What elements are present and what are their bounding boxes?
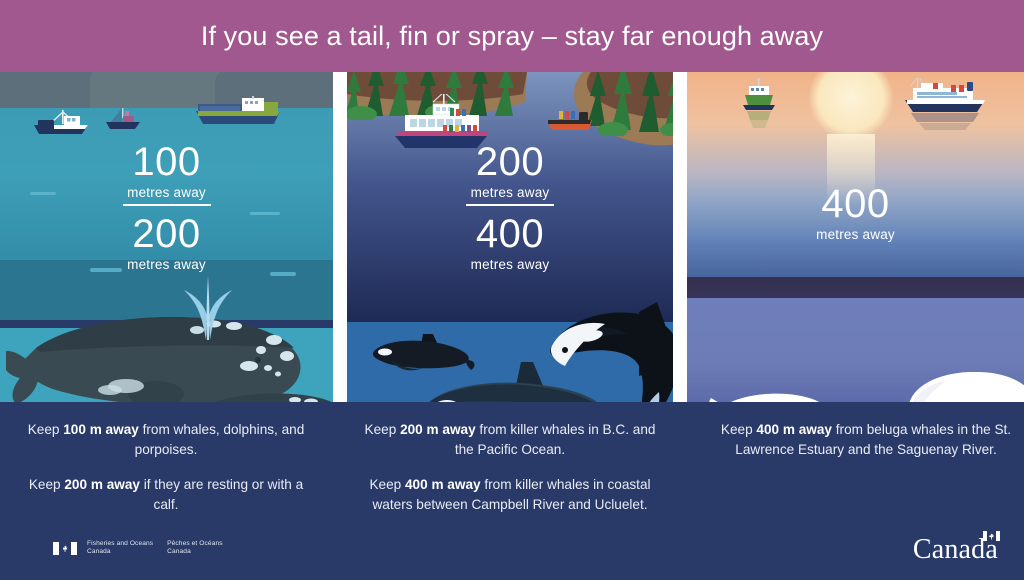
guidance-column-killer-whales: Keep 200 m away from killer whales in B.…	[358, 420, 662, 530]
header-banner: If you see a tail, fin or spray – stay f…	[0, 0, 1024, 72]
guidance-prefix: Keep	[369, 477, 405, 492]
canada-wordmark-flag-icon	[983, 531, 1000, 541]
tugboat-icon	[741, 78, 777, 130]
department-name: Fisheries and Oceans CanadaPêches et Océ…	[87, 540, 223, 557]
conifer-tree-icon	[583, 72, 673, 136]
guidance-suffix: if they are resting or with a calf.	[140, 477, 303, 512]
guidance-line: Keep 400 m away from killer whales in co…	[358, 475, 662, 514]
fishing-boat-icon	[34, 110, 94, 138]
beluga-whale-icon	[873, 372, 1024, 402]
divider-rule	[123, 204, 211, 206]
page-title: If you see a tail, fin or spray – stay f…	[201, 23, 823, 50]
cruise-ferry-icon	[903, 78, 993, 134]
whale-spray-icon	[178, 270, 238, 342]
measurement-block-400: 400 metres away	[687, 182, 1024, 243]
zodiac-boat-icon	[545, 108, 595, 136]
guidance-prefix: Keep	[721, 422, 757, 437]
fip-signature: Fisheries and Oceans CanadaPêches et Océ…	[53, 540, 223, 557]
divider-rule	[466, 204, 554, 206]
infographic-poster: If you see a tail, fin or spray – stay f…	[0, 0, 1024, 580]
guidance-prefix: Keep	[365, 422, 401, 437]
sailboat-icon	[104, 108, 144, 132]
beluga-whale-icon	[705, 390, 835, 402]
panel-divider	[673, 72, 687, 402]
measure-unit: metres away	[347, 184, 673, 201]
guidance-suffix: from killer whales in B.C. and the Pacif…	[455, 422, 656, 457]
guidance-distance: 400 m away	[756, 422, 832, 437]
measurement-block-200-400: 200 metres away 400 metres away	[347, 140, 673, 273]
measure-unit: metres away	[0, 184, 333, 201]
guidance-distance: 200 m away	[64, 477, 140, 492]
measure-value: 200	[0, 212, 333, 256]
guidance-prefix: Keep	[29, 477, 65, 492]
illustration-panels: 100 metres away 200 metres away	[0, 72, 1024, 402]
whale-calf-icon	[180, 384, 333, 402]
panel-whales: 100 metres away 200 metres away	[0, 72, 333, 402]
guidance-line: Keep 100 m away from whales, dolphins, a…	[16, 420, 316, 459]
measure-unit: metres away	[687, 226, 1024, 243]
measure-value: 100	[0, 140, 333, 184]
measure-value: 200	[347, 140, 673, 184]
guidance-distance: 100 m away	[63, 422, 139, 437]
department-name-fr: Pêches et Océans Canada	[167, 540, 222, 557]
guidance-line: Keep 400 m away from beluga whales in th…	[718, 420, 1014, 459]
guidance-prefix: Keep	[28, 422, 64, 437]
measure-value: 400	[687, 182, 1024, 226]
panel-killer-whales: 200 metres away 400 metres away	[347, 72, 673, 402]
guidance-line: Keep 200 m away if they are resting or w…	[16, 475, 316, 514]
guidance-column-whales: Keep 100 m away from whales, dolphins, a…	[16, 420, 316, 530]
guidance-column-belugas: Keep 400 m away from beluga whales in th…	[718, 420, 1014, 475]
measure-unit: metres away	[347, 256, 673, 273]
measure-value: 400	[347, 212, 673, 256]
panel-divider	[333, 72, 347, 402]
guidance-distance: 200 m away	[400, 422, 476, 437]
guidance-distance: 400 m away	[405, 477, 481, 492]
guidance-suffix: from whales, dolphins, and porpoises.	[135, 422, 305, 457]
panel-belugas: 400 metres away	[687, 72, 1024, 402]
cargo-ship-icon	[196, 96, 282, 126]
guidance-line: Keep 200 m away from killer whales in B.…	[358, 420, 662, 459]
canadian-flag-icon	[53, 542, 77, 555]
measurement-block-100-200: 100 metres away 200 metres away	[0, 140, 333, 273]
department-name-en: Fisheries and Oceans Canada	[87, 540, 153, 557]
measure-unit: metres away	[0, 256, 333, 273]
canada-wordmark: Canada	[913, 534, 998, 566]
breaching-orca-icon	[543, 300, 673, 402]
